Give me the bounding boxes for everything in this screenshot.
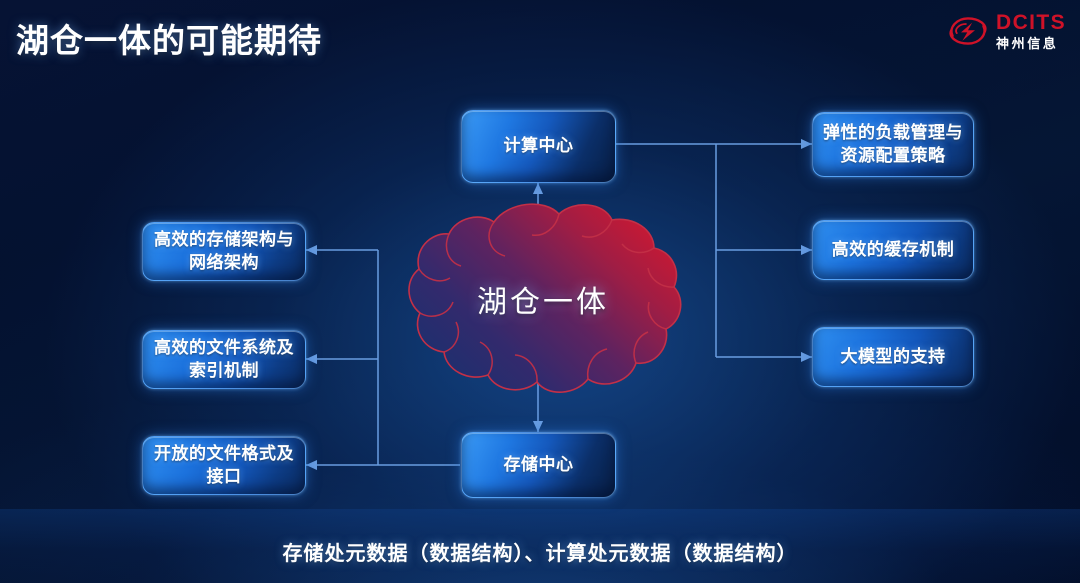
node-llm-support[interactable]: 大模型的支持 xyxy=(812,327,974,387)
logo-text-en: DCITS xyxy=(996,12,1066,33)
swirl-icon xyxy=(947,12,989,50)
node-label: 计算中心 xyxy=(504,135,574,157)
node-label: 高效的存储架构与网络架构 xyxy=(152,229,296,274)
slide-canvas: 湖仓一体的可能期待 DCITS 神州信息 xyxy=(0,0,1080,583)
brand-logo: DCITS 神州信息 xyxy=(947,12,1066,50)
logo-wordmark: DCITS 神州信息 xyxy=(996,12,1066,50)
node-label: 高效的缓存机制 xyxy=(832,239,955,261)
footer-caption: 存储处元数据（数据结构）、计算处元数据（数据结构） xyxy=(0,537,1080,566)
node-label: 高效的文件系统及索引机制 xyxy=(152,337,296,382)
page-title: 湖仓一体的可能期待 xyxy=(16,14,322,62)
node-storage-network-arch[interactable]: 高效的存储架构与网络架构 xyxy=(142,222,306,281)
node-label: 弹性的负载管理与资源配置策略 xyxy=(822,122,964,167)
logo-text-cn: 神州信息 xyxy=(996,37,1066,50)
node-elastic-workload[interactable]: 弹性的负载管理与资源配置策略 xyxy=(812,112,974,177)
node-compute-center[interactable]: 计算中心 xyxy=(461,110,616,183)
node-storage-center[interactable]: 存储中心 xyxy=(461,432,616,498)
node-label: 开放的文件格式及接口 xyxy=(152,443,296,488)
node-open-file-format[interactable]: 开放的文件格式及接口 xyxy=(142,436,306,495)
node-efficient-cache[interactable]: 高效的缓存机制 xyxy=(812,220,974,280)
node-label: 存储中心 xyxy=(504,454,574,476)
node-file-system-index[interactable]: 高效的文件系统及索引机制 xyxy=(142,330,306,389)
data-lakehouse-cloud xyxy=(398,196,688,401)
node-label: 大模型的支持 xyxy=(841,346,946,368)
